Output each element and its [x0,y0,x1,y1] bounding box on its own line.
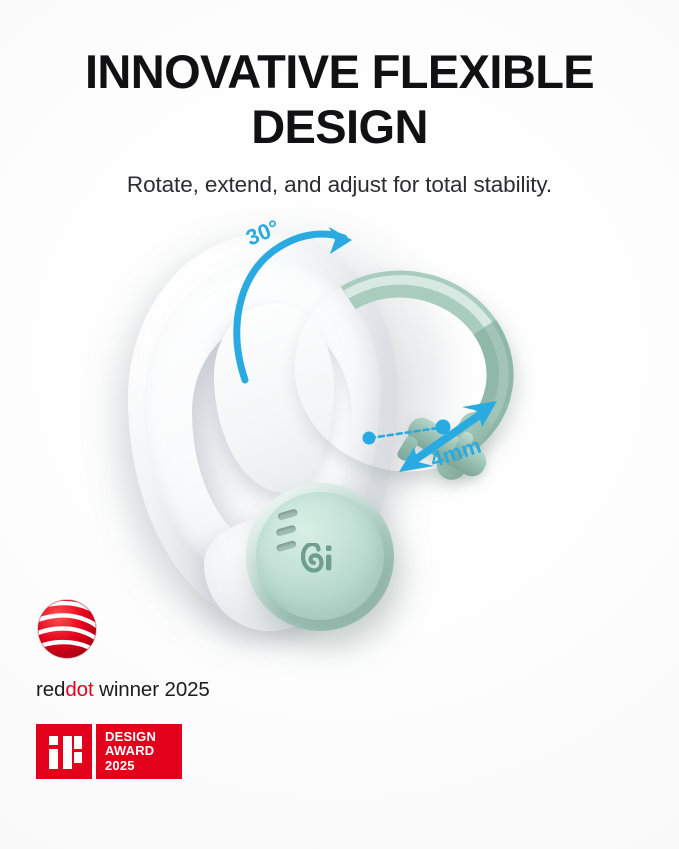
if-award-line-3: 2025 [105,759,135,774]
vent-slot [276,540,297,552]
if-f-top-arm [74,736,82,749]
vent-slot [275,524,296,536]
awards-section: reddot winner 2025 DESIGN AWARD 2025 [36,598,296,779]
product-feature-page: INNOVATIVE FLEXIBLE DESIGN Rotate, exten… [0,0,679,849]
headline-line-1: INNOVATIVE FLEXIBLE [0,44,679,99]
subheadline: Rotate, extend, and adjust for total sta… [0,172,679,198]
page-title: INNOVATIVE FLEXIBLE DESIGN [0,44,679,155]
reddot-word-red: red [36,678,65,701]
vent-slot [277,508,298,520]
reddot-award-text: reddot winner 2025 [36,678,296,702]
reddot-word-dot: dot [65,678,93,701]
if-design-award-badge: DESIGN AWARD 2025 [36,724,182,779]
reddot-sphere-icon [36,598,98,660]
if-award-line-1: DESIGN [105,730,156,745]
if-award-text-panel: DESIGN AWARD 2025 [96,724,182,779]
if-i-dot [49,736,58,745]
if-f-stem [63,736,72,769]
product-illustration [0,205,679,635]
if-monogram-icon [36,724,92,779]
headline-line-2: DESIGN [0,99,679,154]
if-award-line-2: AWARD [105,744,154,759]
if-f-mid-arm [74,752,82,763]
if-i-stem [49,749,58,769]
soundcore-logo-icon [301,543,343,573]
reddot-word-rest: winner 2025 [94,678,210,701]
ear-model [118,233,448,633]
